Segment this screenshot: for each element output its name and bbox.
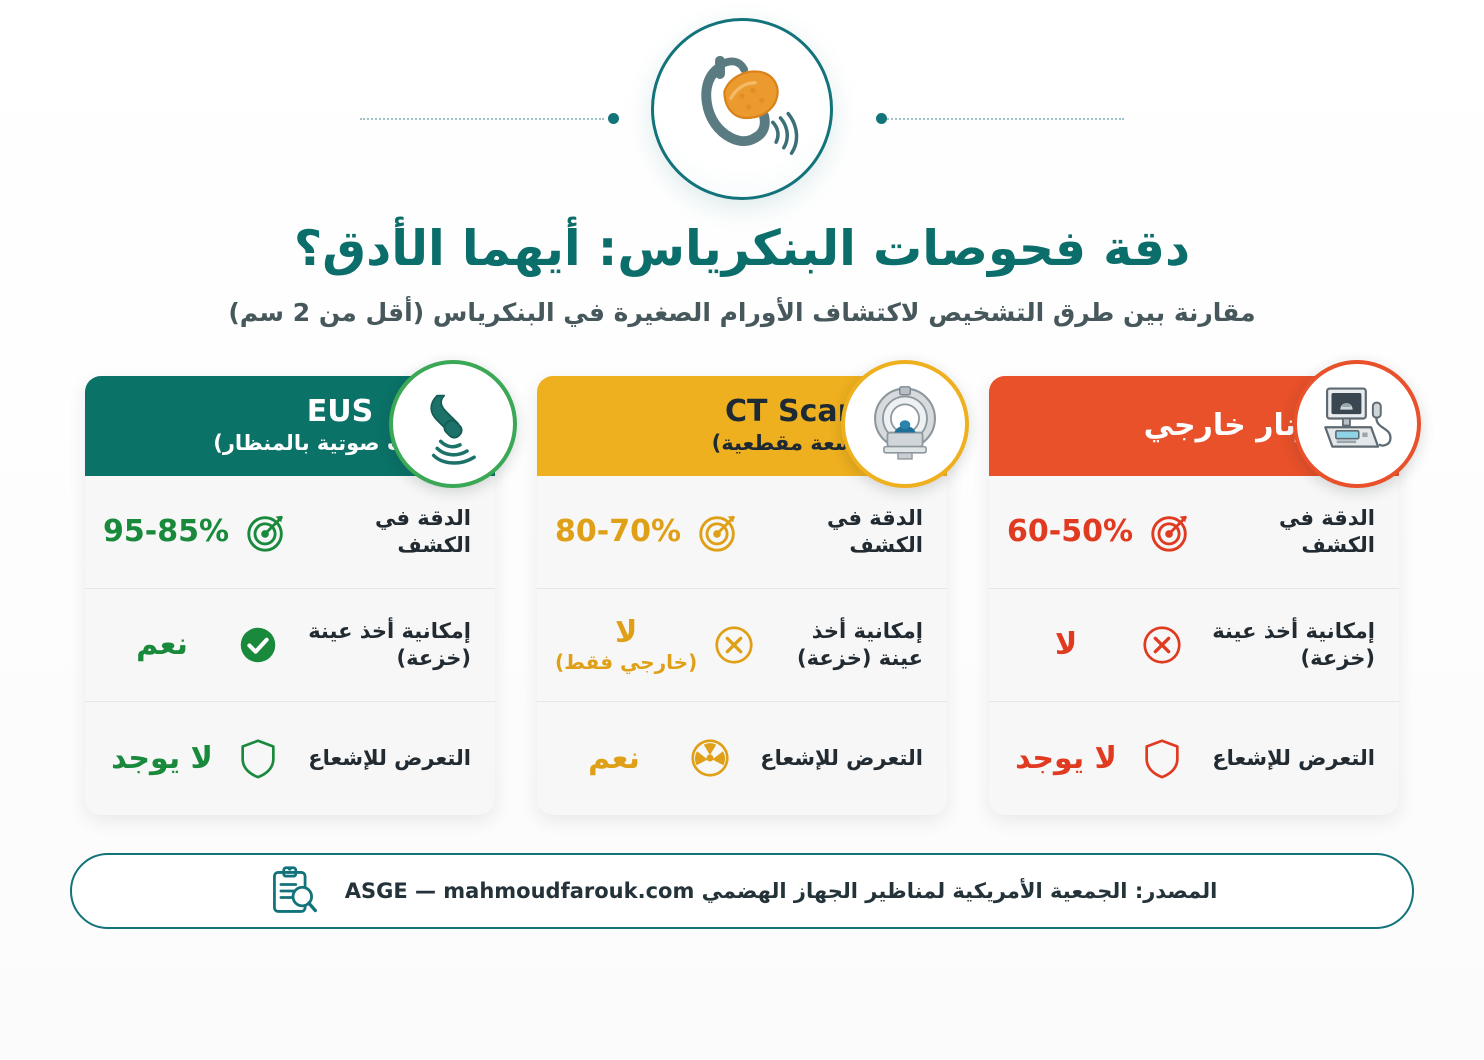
table-row: الدقة في الكشف 60-50% [989,476,1399,589]
source-footer: المصدر: الجمعية الأمريكية لمناظير الجهاز… [70,853,1414,929]
hero-dot-left [608,113,619,124]
ultrasound-machine-icon [1313,378,1401,470]
shield-icon [1125,735,1199,781]
row-label: التعرض للإشعاع [295,745,473,772]
table-row: التعرض للإشعاع لا يوجد [989,702,1399,815]
row-value: نعم [555,742,673,776]
card-body-ct-scan: الدقة في الكشف 80-70% [537,476,947,815]
card-ct-scan[interactable]: CT Scan (أشعة مقطعية) الدقة في الكشف [537,376,947,815]
ct-scanner-icon [861,378,949,470]
card-header-ct-scan: CT Scan (أشعة مقطعية) [537,376,947,476]
row-value-note: (خارجي فقط) [555,651,697,673]
target-icon [681,509,755,555]
row-value: لا [1007,628,1125,662]
card-badge-ct-scan [841,360,969,488]
row-value-text: لا [615,615,637,650]
table-row: إمكانية أخذ عينة (خزعة) لا (خارجي فقط) [537,589,947,702]
row-value: 80-70% [555,515,681,549]
row-value: لا يوجد [1007,742,1125,776]
row-label: التعرض للإشعاع [1199,745,1377,772]
row-value-text: 80-70% [555,514,681,549]
infographic-page: دقة فحوصات البنكرياس: أيهما الأدق؟ مقارن… [0,0,1484,1060]
table-row: الدقة في الكشف 80-70% [537,476,947,589]
row-value-text: 95-85% [103,514,229,549]
radiation-icon [673,735,747,781]
card-body-ultrasound: الدقة في الكشف 60-50% [989,476,1399,815]
comparison-cards: سونار خارجي الدقة في الكشف [0,376,1484,815]
clipboard-search-icon [267,865,319,917]
page-subtitle: مقارنة بين طرق التشخيص لاكتشاف الأورام ا… [0,297,1484,330]
card-badge-ultrasound [1293,360,1421,488]
circle-x-icon [1125,622,1199,668]
circle-x-icon [697,622,771,668]
table-row: إمكانية أخذ عينة (خزعة) لا [989,589,1399,702]
row-value-text: 60-50% [1007,514,1133,549]
card-body-eus: الدقة في الكشف 95-85% [85,476,495,815]
row-value: لا (خارجي فقط) [555,616,697,673]
row-value-text: لا [1055,627,1077,662]
row-label: إمكانية أخذ عينة (خزعة) [1199,618,1377,672]
row-label: الدقة في الكشف [755,505,925,559]
row-label: التعرض للإشعاع [747,745,925,772]
row-value-text: نعم [588,741,640,776]
page-title: دقة فحوصات البنكرياس: أيهما الأدق؟ [0,221,1484,277]
hero-section [0,0,1484,215]
row-value-text: لا يوجد [1015,741,1117,776]
source-text: المصدر: الجمعية الأمريكية لمناظير الجهاز… [345,879,1218,903]
row-label: الدقة في الكشف [303,505,473,559]
shield-icon [221,735,295,781]
pancreas-ultrasound-icon [676,41,808,177]
table-row: إمكانية أخذ عينة (خزعة) نعم [85,589,495,702]
table-row: التعرض للإشعاع نعم [537,702,947,815]
row-value-text: لا يوجد [111,741,213,776]
row-value: 95-85% [103,515,229,549]
hero-dot-right [876,113,887,124]
hero-badge [651,18,833,200]
target-icon [229,509,303,555]
card-header-ultrasound: سونار خارجي [989,376,1399,476]
row-value: 60-50% [1007,515,1133,549]
endoscopic-probe-icon [409,378,497,470]
target-icon [1133,509,1207,555]
row-label: إمكانية أخذ عينة (خزعة) [771,618,925,672]
row-value-text: نعم [136,627,188,662]
row-label: الدقة في الكشف [1207,505,1377,559]
row-value: نعم [103,628,221,662]
row-value: لا يوجد [103,742,221,776]
card-eus[interactable]: EUS (موجات صوتية بالمنظار) الدقة في الكش… [85,376,495,815]
row-label: إمكانية أخذ عينة (خزعة) [295,618,473,672]
table-row: الدقة في الكشف 95-85% [85,476,495,589]
hero-dotted-line-right [360,118,604,120]
table-row: التعرض للإشعاع لا يوجد [85,702,495,815]
card-ultrasound[interactable]: سونار خارجي الدقة في الكشف [989,376,1399,815]
card-header-eus: EUS (موجات صوتية بالمنظار) [85,376,495,476]
hero-dotted-line-left [880,118,1124,120]
check-circle-icon [221,622,295,668]
card-badge-eus [389,360,517,488]
